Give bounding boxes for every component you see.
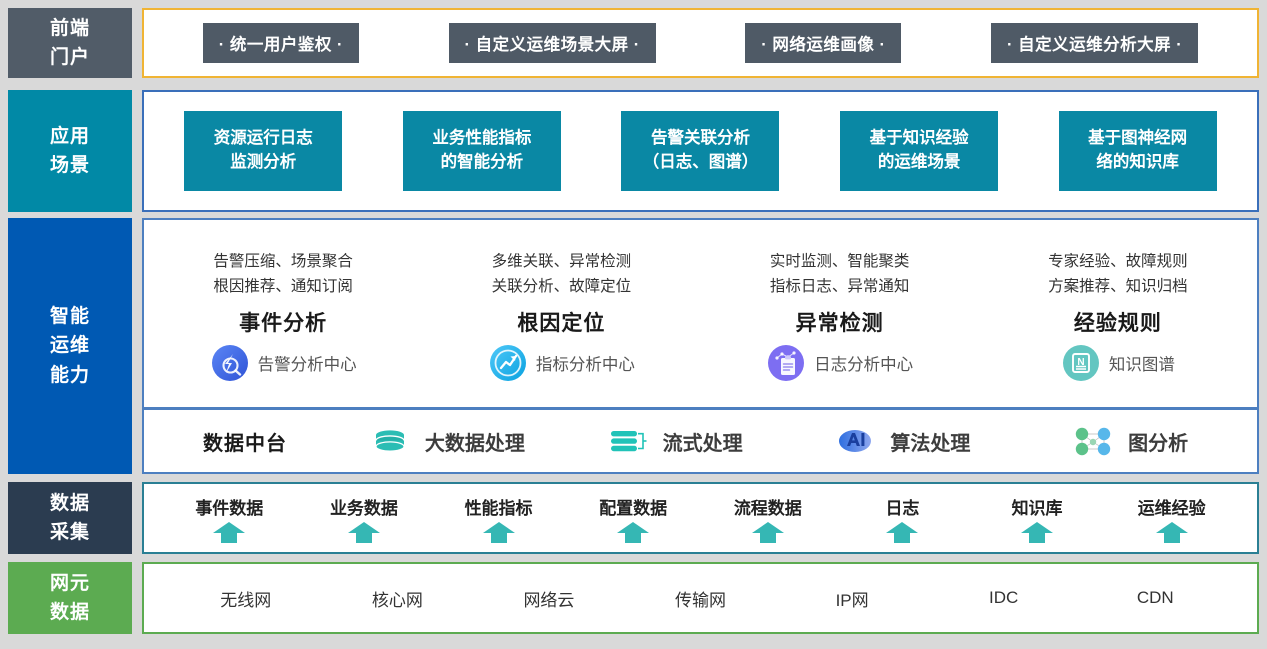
capability-bullet: 指标日志、异常通知: [770, 275, 910, 300]
row-label-line: 网元: [50, 569, 90, 598]
scenario-card-line: 的智能分析: [415, 151, 549, 175]
collect-item-knowledge-base[interactable]: 知识库: [970, 484, 1105, 552]
net-item-cdn[interactable]: CDN: [1079, 588, 1231, 608]
net-item-idc[interactable]: IDC: [928, 588, 1080, 608]
row-application-scenarios: 应用 场景 资源运行日志 监测分析 业务性能指标 的智能分析 告警关联分析 （日…: [8, 90, 1259, 212]
data-midplatform-strip: 数据中台: [144, 410, 1257, 472]
capability-column-root-cause[interactable]: 多维关联、异常检测 关联分析、故障定位 根因定位: [422, 220, 700, 407]
database-icon: [367, 421, 413, 461]
collect-item-event-data[interactable]: 事件数据: [162, 484, 297, 552]
capability-column-anomaly-detection[interactable]: 实时监测、智能聚类 指标日志、异常通知 异常检测: [701, 220, 979, 407]
arrow-up-icon: [885, 521, 919, 543]
capability-product-label: 日志分析中心: [814, 351, 913, 375]
scenario-card-gnn-knowledge-base[interactable]: 基于图神经网 络的知识库: [1059, 111, 1217, 191]
capability-column-event-analysis[interactable]: 告警压缩、场景聚合 根因推荐、通知订阅 事件分析: [144, 220, 422, 407]
net-item-transport[interactable]: 传输网: [625, 586, 777, 611]
row-label-application-scenarios: 应用 场景: [8, 90, 132, 212]
net-item-network-cloud[interactable]: 网络云: [473, 586, 625, 611]
capability-product[interactable]: 日志分析中心: [766, 343, 913, 383]
net-item-ip[interactable]: IP网: [776, 586, 928, 611]
capability-product-label: 知识图谱: [1109, 351, 1175, 375]
capability-product[interactable]: 指标分析中心: [488, 343, 635, 383]
scenario-card-line: 络的知识库: [1071, 151, 1205, 175]
collect-label: 知识库: [1012, 494, 1063, 519]
collect-label: 日志: [885, 494, 919, 519]
arrow-up-icon: [347, 521, 381, 543]
arrow-up-icon: [482, 521, 516, 543]
row-label-network-element-data: 网元 数据: [8, 562, 132, 634]
net-item-core[interactable]: 核心网: [322, 586, 474, 611]
capability-bullet: 告警压缩、场景聚合: [213, 250, 353, 275]
capability-columns: 告警压缩、场景聚合 根因推荐、通知订阅 事件分析: [144, 220, 1257, 410]
capability-bullet: 根因推荐、通知订阅: [213, 275, 353, 300]
capability-product-label: 告警分析中心: [258, 351, 357, 375]
capability-bullet: 多维关联、异常检测: [492, 250, 632, 275]
data-midplatform-heading: 数据中台: [160, 427, 330, 456]
collect-label: 性能指标: [465, 494, 533, 519]
capability-bullet: 专家经验、故障规则: [1048, 250, 1188, 275]
row-label-line: 运维: [50, 331, 90, 360]
metric-trend-icon: [488, 343, 528, 383]
capability-bullet: 实时监测、智能聚类: [770, 250, 910, 275]
scenario-card-line: 监测分析: [196, 151, 330, 175]
front-portal-panel: · 统一用户鉴权 · · 自定义运维场景大屏 · · 网络运维画像 · · 自定…: [142, 8, 1259, 78]
arrow-up-icon: [1020, 521, 1054, 543]
row-network-element-data: 网元 数据 无线网 核心网 网络云 传输网 IP网 IDC CDN: [8, 562, 1259, 634]
alarm-search-icon: [210, 343, 250, 383]
row-front-portal: 前端 门户 · 统一用户鉴权 · · 自定义运维场景大屏 · · 网络运维画像 …: [8, 8, 1259, 78]
capability-title: 事件分析: [239, 307, 327, 337]
capability-title: 经验规则: [1074, 307, 1162, 337]
capability-bullets: 实时监测、智能聚类 指标日志、异常通知: [770, 250, 910, 300]
ai-icon: [832, 421, 878, 461]
row-label-line: 前端: [50, 14, 90, 43]
midplatform-item-stream[interactable]: 流式处理: [562, 421, 786, 461]
row-label-line: 数据: [50, 598, 90, 627]
capability-column-experience-rules[interactable]: 专家经验、故障规则 方案推荐、知识归档 经验规则 N: [979, 220, 1257, 407]
row-label-line: 数据: [50, 489, 90, 518]
scenario-card-line: 基于知识经验: [852, 127, 986, 151]
capability-product-label: 指标分析中心: [536, 351, 635, 375]
arrow-up-icon: [751, 521, 785, 543]
collect-label: 事件数据: [195, 494, 263, 519]
scenario-card-resource-log[interactable]: 资源运行日志 监测分析: [184, 111, 342, 191]
row-aiops-capability: 智能 运维 能力 告警压缩、场景聚合 根因推荐、通知订阅 事件分析: [8, 218, 1259, 474]
row-label-line: 采集: [50, 518, 90, 547]
collect-label: 配置数据: [599, 494, 667, 519]
midplatform-label: 流式处理: [663, 427, 743, 456]
network-element-data-panel: 无线网 核心网 网络云 传输网 IP网 IDC CDN: [142, 562, 1259, 634]
arrow-up-icon: [1155, 521, 1189, 543]
row-data-collection: 数据 采集 事件数据 业务数据 性能指标: [8, 482, 1259, 554]
row-label-line: 应用: [50, 122, 90, 151]
scenario-card-alarm-correlation[interactable]: 告警关联分析 （日志、图谱）: [621, 111, 779, 191]
scenario-card-line: 的运维场景: [852, 151, 986, 175]
aiops-capability-panel: 告警压缩、场景聚合 根因推荐、通知订阅 事件分析: [142, 218, 1259, 474]
row-label-data-collection: 数据 采集: [8, 482, 132, 554]
capability-bullets: 专家经验、故障规则 方案推荐、知识归档: [1048, 250, 1188, 300]
knowledge-graph-icon: N: [1061, 343, 1101, 383]
architecture-diagram: 前端 门户 · 统一用户鉴权 · · 自定义运维场景大屏 · · 网络运维画像 …: [0, 0, 1267, 649]
row-label-line: 门户: [50, 43, 90, 72]
scenario-card-line: 业务性能指标: [415, 127, 549, 151]
midplatform-label: 图分析: [1128, 427, 1188, 456]
portal-chip-custom-analysis-screen[interactable]: · 自定义运维分析大屏 ·: [991, 23, 1198, 63]
capability-bullets: 多维关联、异常检测 关联分析、故障定位: [492, 250, 632, 300]
scenario-card-line: 资源运行日志: [196, 127, 330, 151]
collect-item-config-data[interactable]: 配置数据: [566, 484, 701, 552]
collect-item-business-data[interactable]: 业务数据: [297, 484, 432, 552]
capability-title: 根因定位: [517, 307, 605, 337]
application-scenarios-panel: 资源运行日志 监测分析 业务性能指标 的智能分析 告警关联分析 （日志、图谱） …: [142, 90, 1259, 212]
midplatform-item-bigdata[interactable]: 大数据处理: [334, 421, 558, 461]
capability-product[interactable]: 告警分析中心: [210, 343, 357, 383]
net-item-wireless[interactable]: 无线网: [170, 586, 322, 611]
scenario-card-line: （日志、图谱）: [633, 151, 767, 175]
collect-item-process-data[interactable]: 流程数据: [701, 484, 836, 552]
capability-bullets: 告警压缩、场景聚合 根因推荐、通知订阅: [213, 250, 353, 300]
row-label-line: 智能: [50, 302, 90, 331]
portal-chip-user-auth[interactable]: · 统一用户鉴权 ·: [203, 23, 359, 63]
arrow-up-icon: [616, 521, 650, 543]
portal-chip-network-ops-profile[interactable]: · 网络运维画像 ·: [745, 23, 901, 63]
row-label-aiops-capability: 智能 运维 能力: [8, 218, 132, 474]
scenario-card-business-performance[interactable]: 业务性能指标 的智能分析: [403, 111, 561, 191]
midplatform-label: 大数据处理: [425, 427, 525, 456]
scenario-card-line: 告警关联分析: [633, 127, 767, 151]
collect-item-performance-metrics[interactable]: 性能指标: [431, 484, 566, 552]
midplatform-label: 算法处理: [890, 427, 970, 456]
collect-label: 流程数据: [734, 494, 802, 519]
log-clipboard-icon: [766, 343, 806, 383]
data-collection-panel: 事件数据 业务数据 性能指标 配置数据: [142, 482, 1259, 554]
collect-label: 业务数据: [330, 494, 398, 519]
midplatform-item-graph[interactable]: 图分析: [1017, 421, 1241, 461]
capability-bullet: 关联分析、故障定位: [492, 275, 632, 300]
midplatform-item-algorithm[interactable]: 算法处理: [790, 421, 1014, 461]
capability-product[interactable]: N 知识图谱: [1061, 343, 1175, 383]
row-label-line: 场景: [50, 151, 90, 180]
graph-network-icon: [1070, 421, 1116, 461]
scenario-card-knowledge-ops[interactable]: 基于知识经验 的运维场景: [840, 111, 998, 191]
row-label-front-portal: 前端 门户: [8, 8, 132, 78]
stream-icon: [605, 421, 651, 461]
capability-title: 异常检测: [796, 307, 884, 337]
scenario-card-line: 基于图神经网: [1071, 127, 1205, 151]
collect-item-ops-experience[interactable]: 运维经验: [1104, 484, 1239, 552]
capability-bullet: 方案推荐、知识归档: [1048, 275, 1188, 300]
arrow-up-icon: [212, 521, 246, 543]
collect-label: 运维经验: [1138, 494, 1206, 519]
collect-item-logs[interactable]: 日志: [835, 484, 970, 552]
portal-chip-custom-ops-screen[interactable]: · 自定义运维场景大屏 ·: [449, 23, 656, 63]
row-label-line: 能力: [50, 361, 90, 390]
